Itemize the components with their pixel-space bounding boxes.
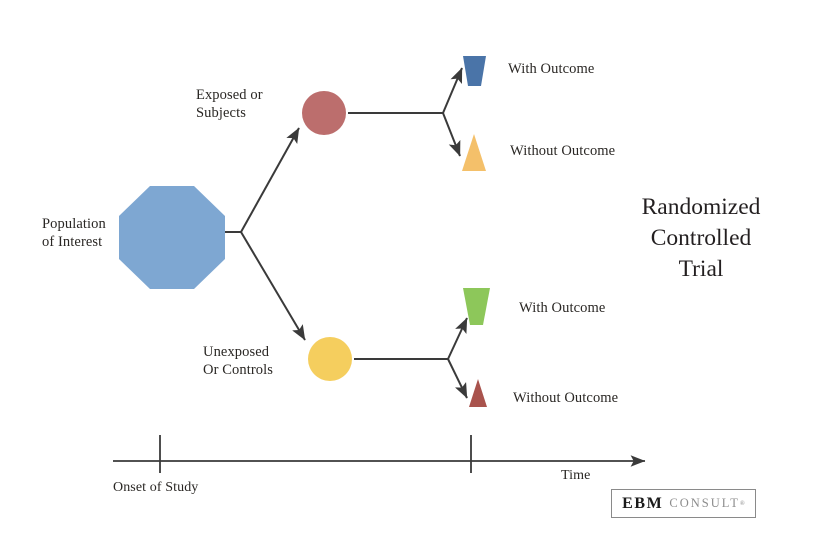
exposed-with-outcome-arrow: [443, 68, 462, 113]
diagram-title: RandomizedControlledTrial: [592, 192, 810, 285]
diagram-title-line-1: Randomized: [642, 194, 761, 220]
registered-trademark-icon: ®: [740, 500, 745, 507]
branch-arrow-unexposed: [241, 232, 305, 340]
population-label-line-1: Population: [42, 216, 106, 232]
population-octagon: [119, 186, 225, 289]
outcome-shape-with-exposed: [463, 56, 486, 86]
diagram-title-line-3: Trial: [679, 256, 724, 282]
exposed-group-label-line-1: Exposed or: [196, 87, 263, 103]
unexposed-without-outcome-arrow: [448, 359, 467, 398]
outcome-label-with-exposed: With Outcome: [508, 61, 594, 79]
logo-secondary-text: CONSULT: [669, 496, 740, 511]
outcome-shape-without-exposed: [462, 134, 486, 171]
population-label: Populationof Interest: [42, 216, 106, 251]
logo-primary-text: EBM: [622, 495, 663, 513]
diagram-canvas: Populationof Interest Exposed orSubjects…: [0, 0, 830, 540]
outcome-label-without-unexposed: Without Outcome: [513, 390, 618, 408]
timeline-axis-label: Time: [561, 467, 590, 484]
unexposed-group-label: UnexposedOr Controls: [203, 344, 273, 379]
exposed-node-circle: [302, 91, 346, 135]
diagram-title-line-2: Controlled: [651, 225, 752, 251]
outcome-label-with-unexposed: With Outcome: [519, 300, 605, 318]
exposed-without-outcome-arrow: [443, 113, 460, 156]
branch-arrow-exposed: [241, 128, 299, 232]
exposed-group-label: Exposed orSubjects: [196, 87, 263, 122]
timeline-onset-label: Onset of Study: [113, 479, 198, 496]
ebm-consult-logo[interactable]: EBMCONSULT®: [611, 489, 756, 518]
unexposed-node-circle: [308, 337, 352, 381]
outcome-shape-without-unexposed: [469, 379, 487, 407]
population-label-line-2: of Interest: [42, 234, 102, 250]
unexposed-group-label-line-1: Unexposed: [203, 344, 269, 360]
unexposed-group-label-line-2: Or Controls: [203, 362, 273, 378]
exposed-group-label-line-2: Subjects: [196, 105, 246, 121]
unexposed-with-outcome-arrow: [448, 318, 467, 359]
outcome-label-without-exposed: Without Outcome: [510, 143, 615, 161]
